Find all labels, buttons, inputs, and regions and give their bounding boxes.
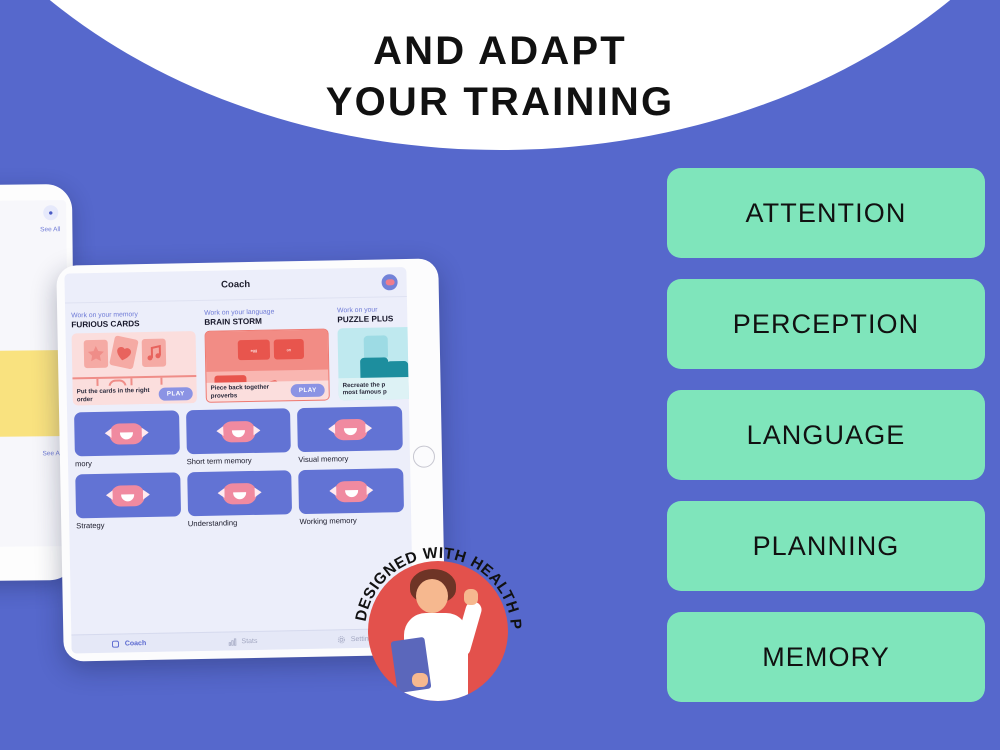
pill-perception[interactable]: PERCEPTION [667, 279, 985, 369]
coach-card-puzzle-plus[interactable]: Work on your PUZZLE PLUS Recreate the p … [337, 305, 414, 400]
game-tile[interactable]: Short term memory [186, 408, 292, 466]
coach-card-foot-text: Recreate the p most famous p [343, 381, 387, 396]
coach-card-foot-text: Piece back together proverbs [211, 384, 291, 400]
brain-character-icon [222, 482, 256, 504]
word-tile: on [274, 339, 304, 360]
health-professionals-badge: DESIGNED WITH HEALTH PROFESSIONALS [345, 538, 531, 724]
game-tile[interactable]: Strategy [75, 472, 181, 530]
headline-line-2: YOUR TRAINING [0, 77, 1000, 128]
brain-character-icon [111, 485, 145, 507]
star-icon [84, 340, 109, 368]
doctor-hand-holding [412, 673, 428, 687]
game-tile[interactable]: mory [74, 410, 180, 468]
category-pill-list: ATTENTION PERCEPTION LANGUAGE PLANNING M… [667, 168, 985, 702]
card-star [84, 340, 109, 368]
pill-label: ATTENTION [746, 198, 907, 229]
bars-icon [227, 637, 237, 646]
phone-card-artwork [0, 350, 65, 438]
nav-label: Coach [125, 640, 147, 647]
phone-card-sub: Find the locat [0, 337, 64, 346]
coach-card-eyebrow: Work on your [337, 305, 414, 314]
word-tile: egg [238, 340, 270, 361]
brain-avatar-icon [385, 279, 394, 285]
brain-character-icon [221, 420, 255, 442]
nav-label: Stats [241, 637, 257, 644]
game-label: mory [75, 457, 180, 468]
pill-attention[interactable]: ATTENTION [667, 168, 985, 258]
coach-card-artwork: egg on you can't Piece back together pro… [205, 328, 330, 402]
nav-item-stats[interactable]: Stats [185, 636, 299, 647]
tablet-home-button[interactable] [413, 445, 435, 467]
avatar[interactable] [381, 274, 397, 290]
game-thumbnail [297, 406, 402, 452]
phone-featured-card[interactable]: GEOGRAPHY Find the locat [0, 328, 64, 346]
coach-card-footer: Recreate the p most famous p [338, 376, 413, 400]
game-tile[interactable]: Visual memory [297, 406, 403, 464]
game-tile[interactable]: Understanding [187, 470, 293, 528]
coach-card-name: FURIOUS CARDS [71, 318, 195, 329]
puzzle-piece-icon [364, 335, 388, 359]
pill-label: LANGUAGE [747, 420, 906, 451]
tablet-topbar-title: Coach [221, 279, 250, 291]
music-note-icon [142, 339, 167, 367]
coach-card-footer: Put the cards in the right order PLAY [73, 384, 197, 405]
nav-item-coach[interactable]: Coach [71, 638, 185, 649]
brain-character-icon [333, 418, 367, 440]
game-thumbnail [187, 470, 292, 516]
coach-card-name: BRAIN STORM [204, 315, 328, 326]
table-line [72, 375, 196, 379]
game-thumbnail [299, 468, 404, 514]
pill-label: PLANNING [753, 531, 900, 562]
coach-card-artwork: Put the cards in the right order PLAY [72, 331, 197, 405]
phone-see-all-1[interactable]: See All [40, 226, 60, 233]
pill-memory[interactable]: MEMORY [667, 612, 985, 702]
game-label: Understanding [188, 517, 293, 528]
pill-planning[interactable]: PLANNING [667, 501, 985, 591]
headline-line-1: AND ADAPT [0, 26, 1000, 77]
coach-card-artwork: Recreate the p most famous p [337, 326, 413, 400]
game-label: Working memory [299, 515, 404, 526]
game-thumbnail [75, 472, 180, 518]
coach-card-brain-storm[interactable]: Work on your language BRAIN STORM egg on… [204, 307, 330, 402]
game-label: Strategy [76, 519, 181, 530]
phone-avatar[interactable]: ● [43, 205, 58, 220]
list-item[interactable]: ● GEO Find [0, 466, 65, 494]
pill-label: PERCEPTION [733, 309, 920, 340]
game-thumbnail [74, 410, 179, 456]
games-grid: mory Short term memory Visual memory Str… [67, 399, 411, 531]
play-button[interactable]: PLAY [159, 387, 193, 401]
game-thumbnail [186, 408, 291, 454]
badge-disc [368, 561, 508, 701]
pill-label: MEMORY [762, 642, 890, 673]
coach-card-footer: Piece back together proverbs PLAY [207, 380, 329, 401]
coach-card-furious-cards[interactable]: Work on your memory FURIOUS CARDS [71, 310, 197, 405]
coach-card-name: PUZZLE PLUS [337, 313, 413, 324]
coach-card-foot-text: Put the cards in the right order [77, 387, 159, 403]
game-label: Visual memory [298, 453, 403, 464]
list-item[interactable]: ❚❚ THE Test [0, 498, 65, 526]
game-label: Short term memory [187, 455, 292, 466]
brain-character-icon [334, 480, 368, 502]
card-music [142, 339, 167, 367]
doctor-head [416, 579, 448, 613]
card-heart [109, 335, 139, 369]
page-title: AND ADAPT YOUR TRAINING [0, 26, 1000, 128]
pill-language[interactable]: LANGUAGE [667, 390, 985, 480]
coach-cards-row: Work on your memory FURIOUS CARDS [65, 297, 409, 406]
doctor-hand-raised [464, 589, 478, 605]
brain-icon [111, 639, 121, 648]
game-tile[interactable]: Working memory [299, 468, 405, 526]
play-button[interactable]: PLAY [291, 384, 325, 398]
brain-character-icon [110, 423, 144, 445]
heart-icon [109, 335, 139, 369]
